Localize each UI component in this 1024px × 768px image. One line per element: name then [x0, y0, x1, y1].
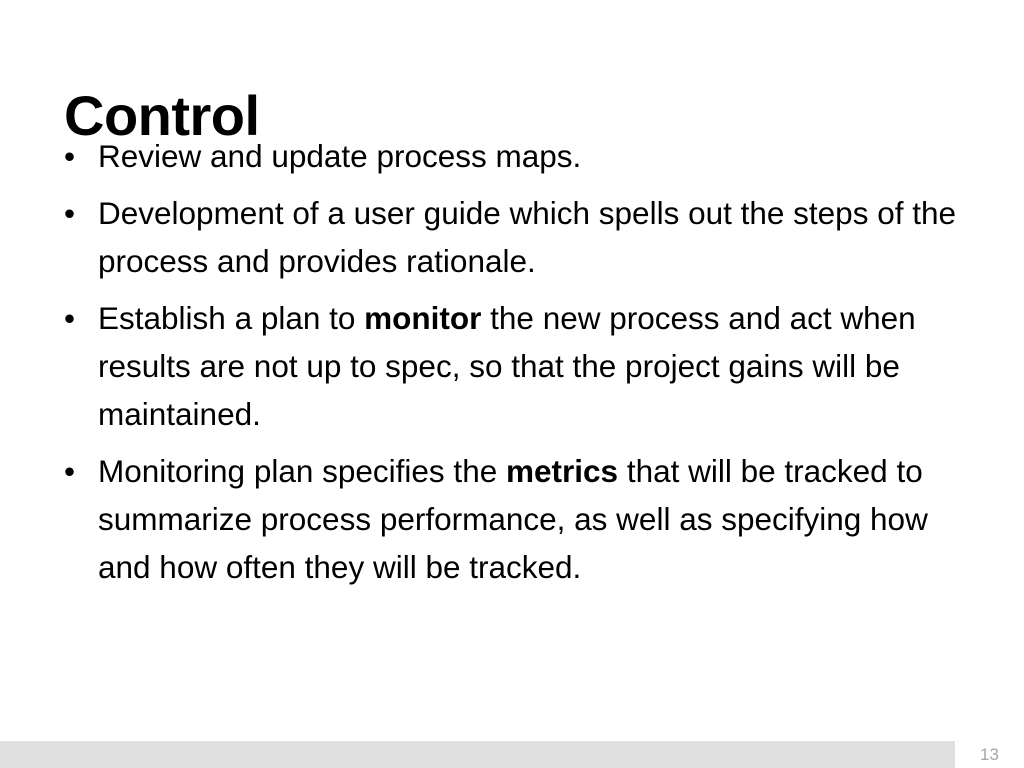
bullet-point-icon: • — [64, 132, 88, 180]
slide-canvas: Control •Review and update process maps.… — [0, 0, 1024, 768]
text-run: Review and update process maps. — [98, 138, 581, 174]
bullet-establish-monitor-plan: •Establish a plan to monitor the new pro… — [62, 294, 982, 438]
bullet-point-icon: • — [64, 447, 88, 495]
bullet-text: Review and update process maps. — [98, 132, 982, 180]
bullet-point-icon: • — [64, 294, 88, 342]
text-run: Development of a user guide which spells… — [98, 195, 956, 279]
page-number: 13 — [955, 741, 1024, 768]
text-run: Establish a plan to — [98, 300, 364, 336]
text-run: Monitoring plan specifies the — [98, 453, 506, 489]
footer-bar — [0, 741, 955, 768]
emphasized-term: metrics — [506, 453, 618, 489]
bullet-text: Development of a user guide which spells… — [98, 189, 982, 285]
bullet-review-process-maps: •Review and update process maps. — [62, 132, 982, 180]
bullet-user-guide-development: •Development of a user guide which spell… — [62, 189, 982, 285]
bullet-point-icon: • — [64, 189, 88, 237]
bullet-list: •Review and update process maps.•Develop… — [62, 132, 982, 600]
bullet-monitoring-plan-metrics: •Monitoring plan specifies the metrics t… — [62, 447, 982, 591]
bullet-text: Monitoring plan specifies the metrics th… — [98, 447, 982, 591]
bullet-text: Establish a plan to monitor the new proc… — [98, 294, 982, 438]
emphasized-term: monitor — [364, 300, 481, 336]
